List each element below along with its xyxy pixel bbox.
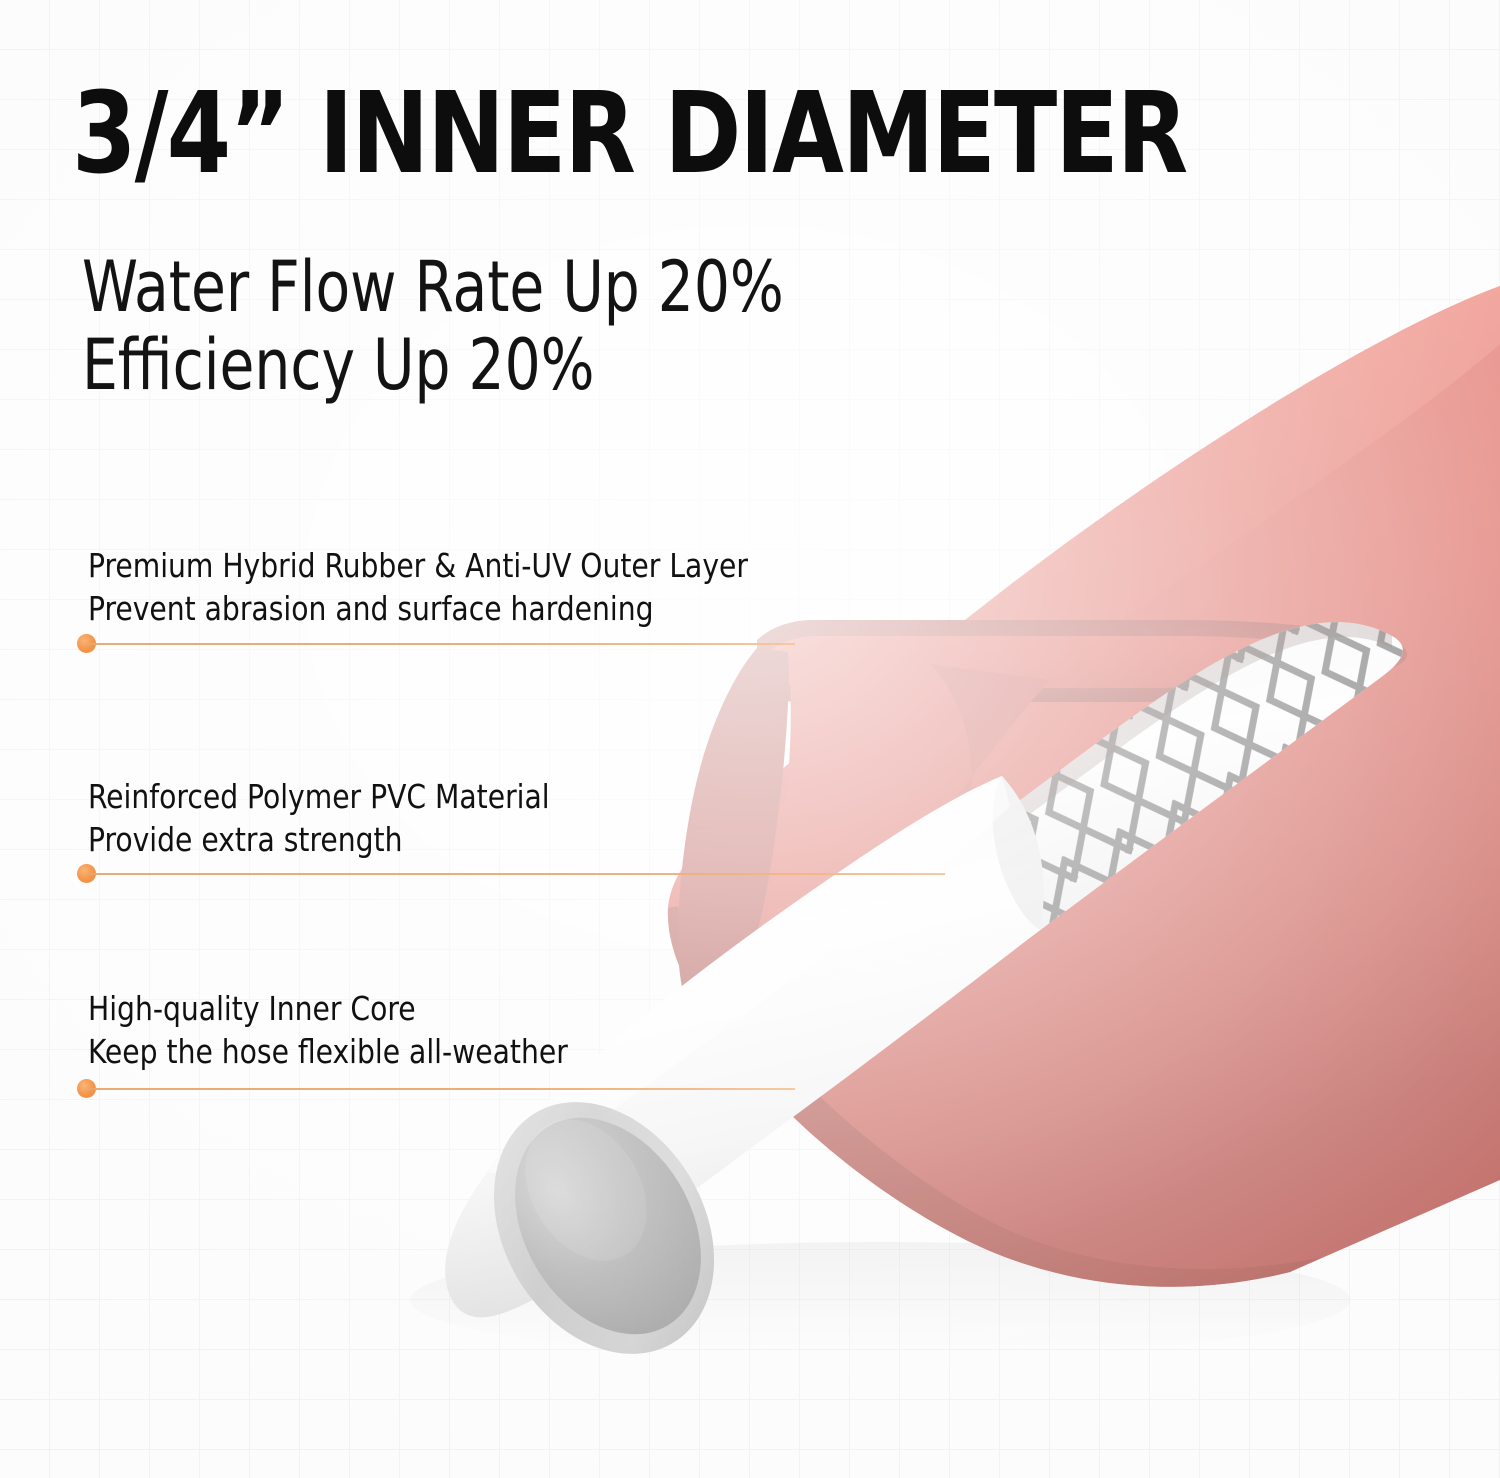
callout-3-title: High-quality Inner Core <box>88 989 416 1028</box>
callout-1-text: Premium Hybrid Rubber & Anti-UV Outer La… <box>88 545 748 631</box>
callout-2-leader-line <box>88 872 945 875</box>
hose-cutaway-illustration <box>0 0 1500 1478</box>
callout-1-detail: Prevent abrasion and surface hardening <box>88 588 748 631</box>
callout-2-detail: Provide extra strength <box>88 819 550 862</box>
subheading-line-2: Efficiency Up 20% <box>82 326 784 404</box>
callout-3-text: High-quality Inner Core Keep the hose fl… <box>88 988 568 1074</box>
page-title: 3/4” INNER DIAMETER <box>72 78 1186 190</box>
callout-3-detail: Keep the hose flexible all-weather <box>88 1031 568 1074</box>
callout-1-leader-line <box>88 642 795 645</box>
subheading-block: Water Flow Rate Up 20% Efficiency Up 20% <box>82 248 784 405</box>
callout-1-title: Premium Hybrid Rubber & Anti-UV Outer La… <box>88 546 748 585</box>
subheading-line-1: Water Flow Rate Up 20% <box>82 248 784 326</box>
callout-2-text: Reinforced Polymer PVC Material Provide … <box>88 776 550 862</box>
callout-3-leader-line <box>88 1087 795 1090</box>
callout-2-title: Reinforced Polymer PVC Material <box>88 777 550 816</box>
